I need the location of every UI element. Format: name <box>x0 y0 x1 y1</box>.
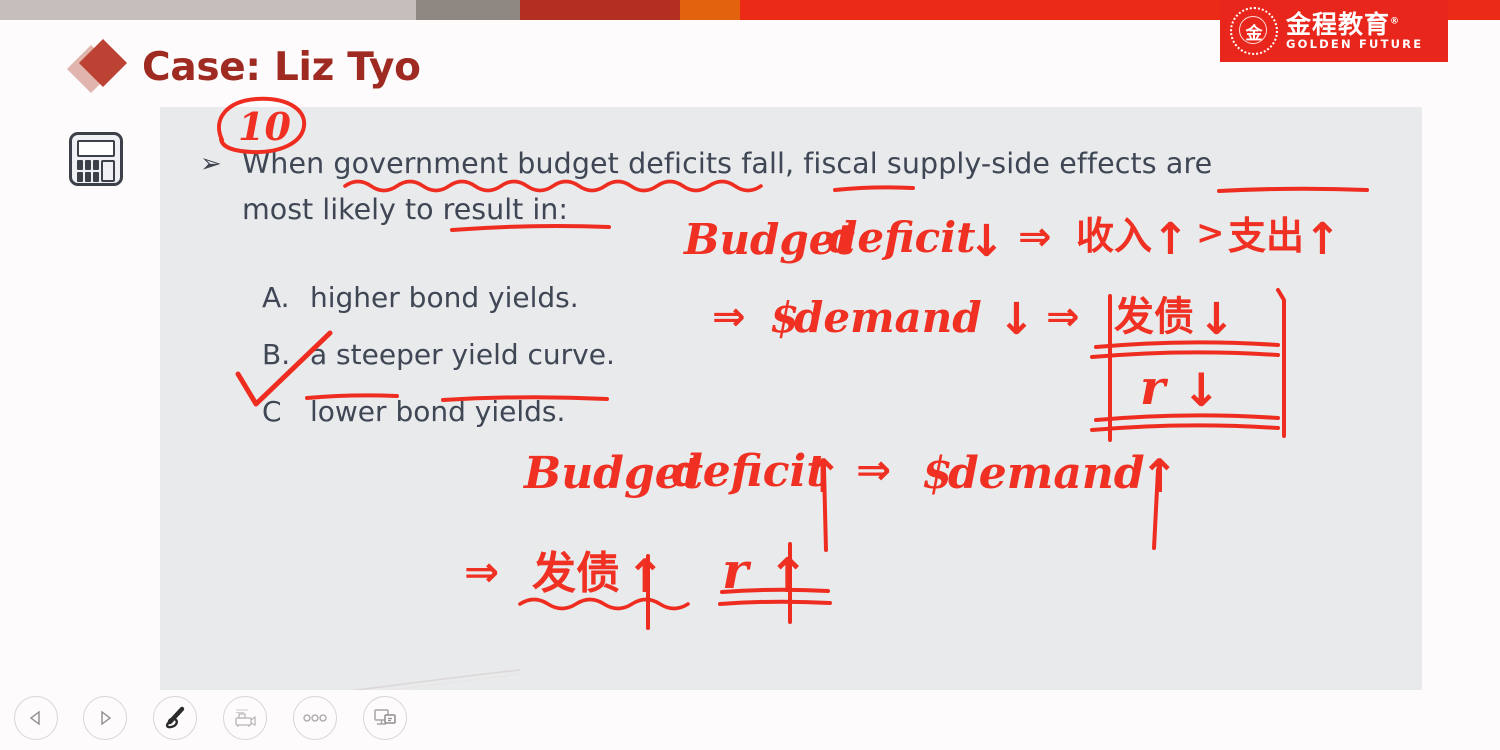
logo-english-name: GOLDEN FUTURE <box>1286 39 1423 51</box>
pen-icon <box>162 705 188 731</box>
presentation-slide-viewer: 金 金程教育® GOLDEN FUTURE Case: Liz Tyo ➢ Wh… <box>0 0 1500 750</box>
choice-b-letter: B. <box>262 338 310 371</box>
choice-c-letter: C <box>262 395 310 428</box>
ellipsis-icon <box>302 713 328 723</box>
seal-badge-icon: 金 <box>1230 7 1278 55</box>
top-strip-segment-3 <box>680 0 740 20</box>
choice-c[interactable]: C lower bond yields. <box>262 395 615 452</box>
choice-c-text: lower bond yields. <box>310 395 565 428</box>
prev-slide-button[interactable] <box>14 696 58 740</box>
question-text-line2: most likely to result in: <box>242 187 1412 233</box>
slide-content-card: ➢ When government budget deficits fall, … <box>160 107 1422 690</box>
diamond-bullet-icon <box>70 36 132 98</box>
page-title: Case: Liz Tyo <box>142 45 421 90</box>
triangle-right-icon <box>96 709 114 727</box>
more-options-button[interactable] <box>293 696 337 740</box>
top-strip-segment-1 <box>416 0 520 20</box>
question-text: When government budget deficits fall, fi… <box>242 141 1404 187</box>
choice-b-text: a steeper yield curve. <box>310 338 615 371</box>
pen-tool-button[interactable] <box>153 696 197 740</box>
seal-glyph: 金 <box>1232 9 1276 53</box>
arrow-bullet-icon: ➢ <box>200 150 222 176</box>
answer-choices: A. higher bond yields. B. a steeper yiel… <box>262 281 615 452</box>
next-slide-button[interactable] <box>83 696 127 740</box>
choice-a-letter: A. <box>262 281 310 314</box>
top-strip-segment-2 <box>520 0 680 20</box>
calculator-icon <box>69 132 123 186</box>
choice-b[interactable]: B. a steeper yield curve. <box>262 338 615 395</box>
screen-share-icon <box>372 705 398 731</box>
choice-a-text: higher bond yields. <box>310 281 579 314</box>
brand-logo: 金 金程教育® GOLDEN FUTURE <box>1220 0 1448 62</box>
question-block: ➢ When government budget deficits fall, … <box>182 141 1412 234</box>
top-strip-segment-0 <box>0 0 416 20</box>
triangle-left-icon <box>27 709 45 727</box>
laser-pointer-button[interactable] <box>223 696 267 740</box>
projector-icon <box>232 705 258 731</box>
presentation-view-button[interactable] <box>363 696 407 740</box>
slide-title-row: Case: Liz Tyo <box>70 36 421 98</box>
choice-a[interactable]: A. higher bond yields. <box>262 281 615 338</box>
bottom-toolbar <box>0 690 1500 750</box>
logo-chinese-name: 金程教育® <box>1286 12 1423 38</box>
registered-mark: ® <box>1390 16 1400 26</box>
